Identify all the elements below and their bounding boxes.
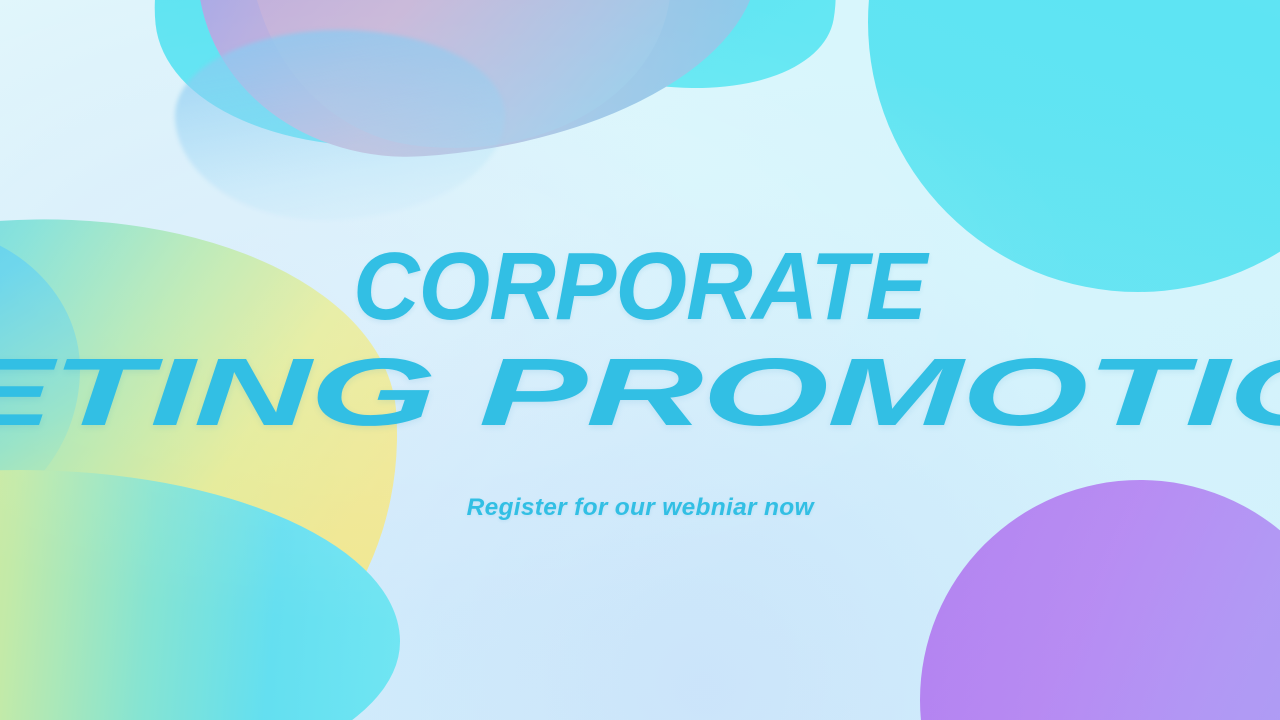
top-cyan-blob-decoration — [132, 0, 787, 171]
promotional-poster: CORPORATE MEETING PROMOTIONS Register fo… — [0, 0, 1280, 720]
poster-content: CORPORATE MEETING PROMOTIONS Register fo… — [0, 238, 1280, 522]
top-blue-accent-decoration — [175, 30, 505, 220]
top-lavender-blob-decoration — [182, 0, 770, 171]
poster-subtitle: Register for our webniar now — [466, 494, 813, 522]
top-cyan-blob-tail-decoration — [521, 0, 858, 114]
top-lavender-blob-overlay-decoration — [219, 0, 707, 178]
poster-headline-line-2: MEETING PROMOTIONS — [0, 344, 1280, 442]
poster-headline-line-1: CORPORATE — [353, 238, 926, 336]
